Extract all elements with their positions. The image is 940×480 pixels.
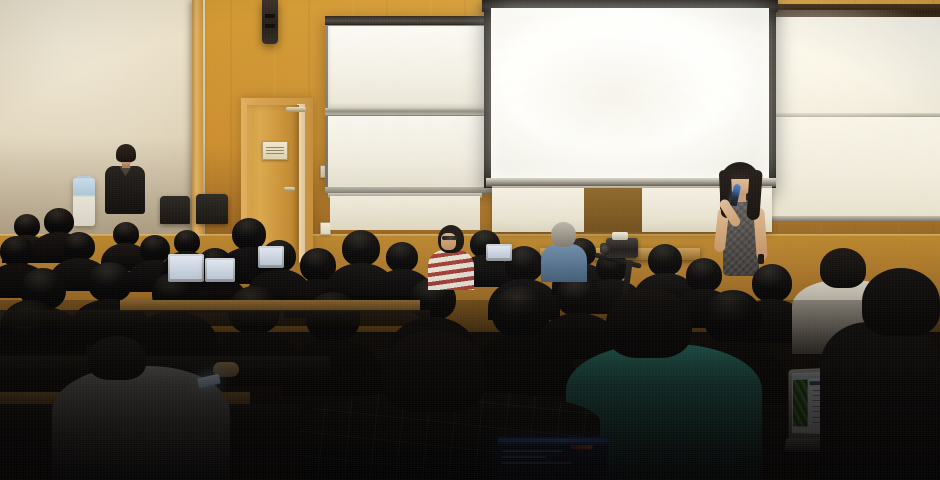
- laptop-row-b[interactable]: [205, 258, 235, 282]
- camera-lens-icon: [600, 243, 610, 254]
- far-right-attendee-head: [862, 268, 940, 336]
- laptop-centre-screen: [493, 437, 609, 476]
- audience-head: [63, 232, 95, 261]
- laptop-centre-accent: [571, 445, 593, 449]
- audience-head: [386, 242, 418, 272]
- audience-head: [686, 258, 722, 292]
- seat-back-row-1: [0, 310, 430, 326]
- green-photo-panel: [793, 379, 808, 426]
- camera-top-handle: [612, 232, 628, 240]
- glasses-icon: [442, 236, 459, 240]
- laptop-centre-text-line: [501, 462, 572, 464]
- audience-head: [752, 264, 792, 302]
- striped-shirt-attendee-body: [428, 250, 474, 290]
- right-attendee-head: [820, 248, 866, 288]
- laptop-screen: [488, 246, 510, 258]
- far-right-attendee-body: [820, 322, 940, 480]
- laptop-centre[interactable]: [496, 436, 620, 480]
- laptop-row-c[interactable]: [258, 246, 284, 268]
- audience-head: [0, 236, 34, 266]
- laptop-row-a[interactable]: [168, 254, 204, 282]
- teal-shirt-attendee-head: [606, 288, 692, 358]
- video-camera-description: centre of the room on a desk, recording …: [600, 232, 601, 233]
- camera-body: [606, 238, 638, 258]
- laptop-row-d[interactable]: [486, 244, 512, 261]
- grey-haired-attendee-head: [551, 222, 576, 247]
- grey-haired-attendee-body: [541, 244, 587, 282]
- audience-head: [342, 230, 380, 266]
- audience-head: [556, 276, 600, 316]
- lecture-hall-photo: blank white slide Person standing at the…: [0, 0, 940, 480]
- grey-sweater-attendee-head: [88, 336, 146, 380]
- laptop-screen: [170, 256, 202, 279]
- video-camera: centre of the room on a desk, recording …: [600, 232, 646, 262]
- laptop-screen: [207, 260, 233, 279]
- audience-head: [648, 244, 682, 276]
- audience-head: [0, 300, 60, 356]
- laptop-centre-text-line: [502, 450, 562, 452]
- laptop-centre-text-line: [502, 456, 546, 458]
- audience-head: [88, 262, 132, 302]
- plaid-shirt-attendee-head: [382, 330, 486, 412]
- audience-head: [44, 208, 74, 235]
- laptop-centre-menubar: [498, 439, 609, 443]
- laptop-screen: [260, 248, 282, 265]
- audience-head: [704, 290, 762, 344]
